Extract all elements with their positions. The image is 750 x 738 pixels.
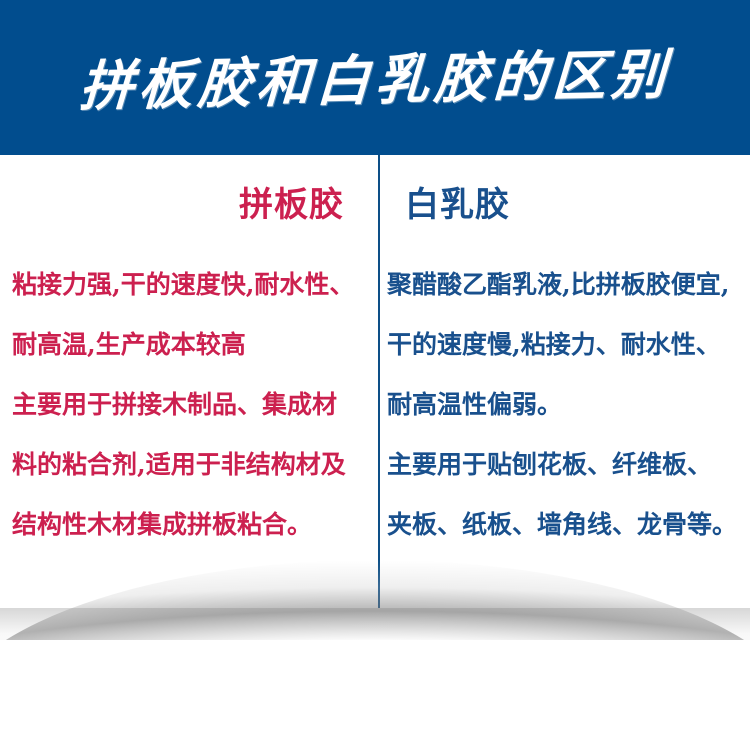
column-right: 白乳胶 聚醋酸乙酯乳液,比拼板胶便宜, 干的速度慢,粘接力、耐水性、 耐高温性偏… <box>380 155 750 555</box>
column-right-line: 聚醋酸乙酯乳液,比拼板胶便宜, <box>387 255 744 315</box>
column-left-heading: 拼板胶 <box>12 155 364 255</box>
comparison-poster: 拼板胶和白乳胶的区别 拼板胶 粘接力强,干的速度快,耐水性、 耐高温,生产成本较… <box>0 0 750 738</box>
column-right-line: 夹板、纸板、墙角线、龙骨等。 <box>387 495 744 555</box>
column-left-line: 料的粘合剂,适用于非结构材及 <box>12 435 364 495</box>
comparison-card: 拼板胶 粘接力强,干的速度快,耐水性、 耐高温,生产成本较高 主要用于拼接木制品… <box>0 155 750 608</box>
column-left: 拼板胶 粘接力强,干的速度快,耐水性、 耐高温,生产成本较高 主要用于拼接木制品… <box>0 155 378 555</box>
column-right-heading: 白乳胶 <box>387 155 744 255</box>
column-left-line: 耐高温,生产成本较高 <box>12 315 364 375</box>
column-right-line: 主要用于贴刨花板、纤维板、 <box>387 435 744 495</box>
column-right-body: 聚醋酸乙酯乳液,比拼板胶便宜, 干的速度慢,粘接力、耐水性、 耐高温性偏弱。 主… <box>387 255 744 555</box>
column-right-line: 耐高温性偏弱。 <box>387 375 744 435</box>
column-left-line: 粘接力强,干的速度快,耐水性、 <box>12 255 364 315</box>
page-title: 拼板胶和白乳胶的区别 <box>0 0 750 155</box>
column-left-line: 主要用于拼接木制品、集成材 <box>12 375 364 435</box>
column-divider <box>378 155 380 608</box>
column-left-body: 粘接力强,干的速度快,耐水性、 耐高温,生产成本较高 主要用于拼接木制品、集成材… <box>12 255 364 555</box>
page-bottom-fill <box>0 640 750 738</box>
column-left-line: 结构性木材集成拼板粘合。 <box>12 495 364 555</box>
header-banner: 拼板胶和白乳胶的区别 <box>0 0 750 155</box>
column-right-line: 干的速度慢,粘接力、耐水性、 <box>387 315 744 375</box>
